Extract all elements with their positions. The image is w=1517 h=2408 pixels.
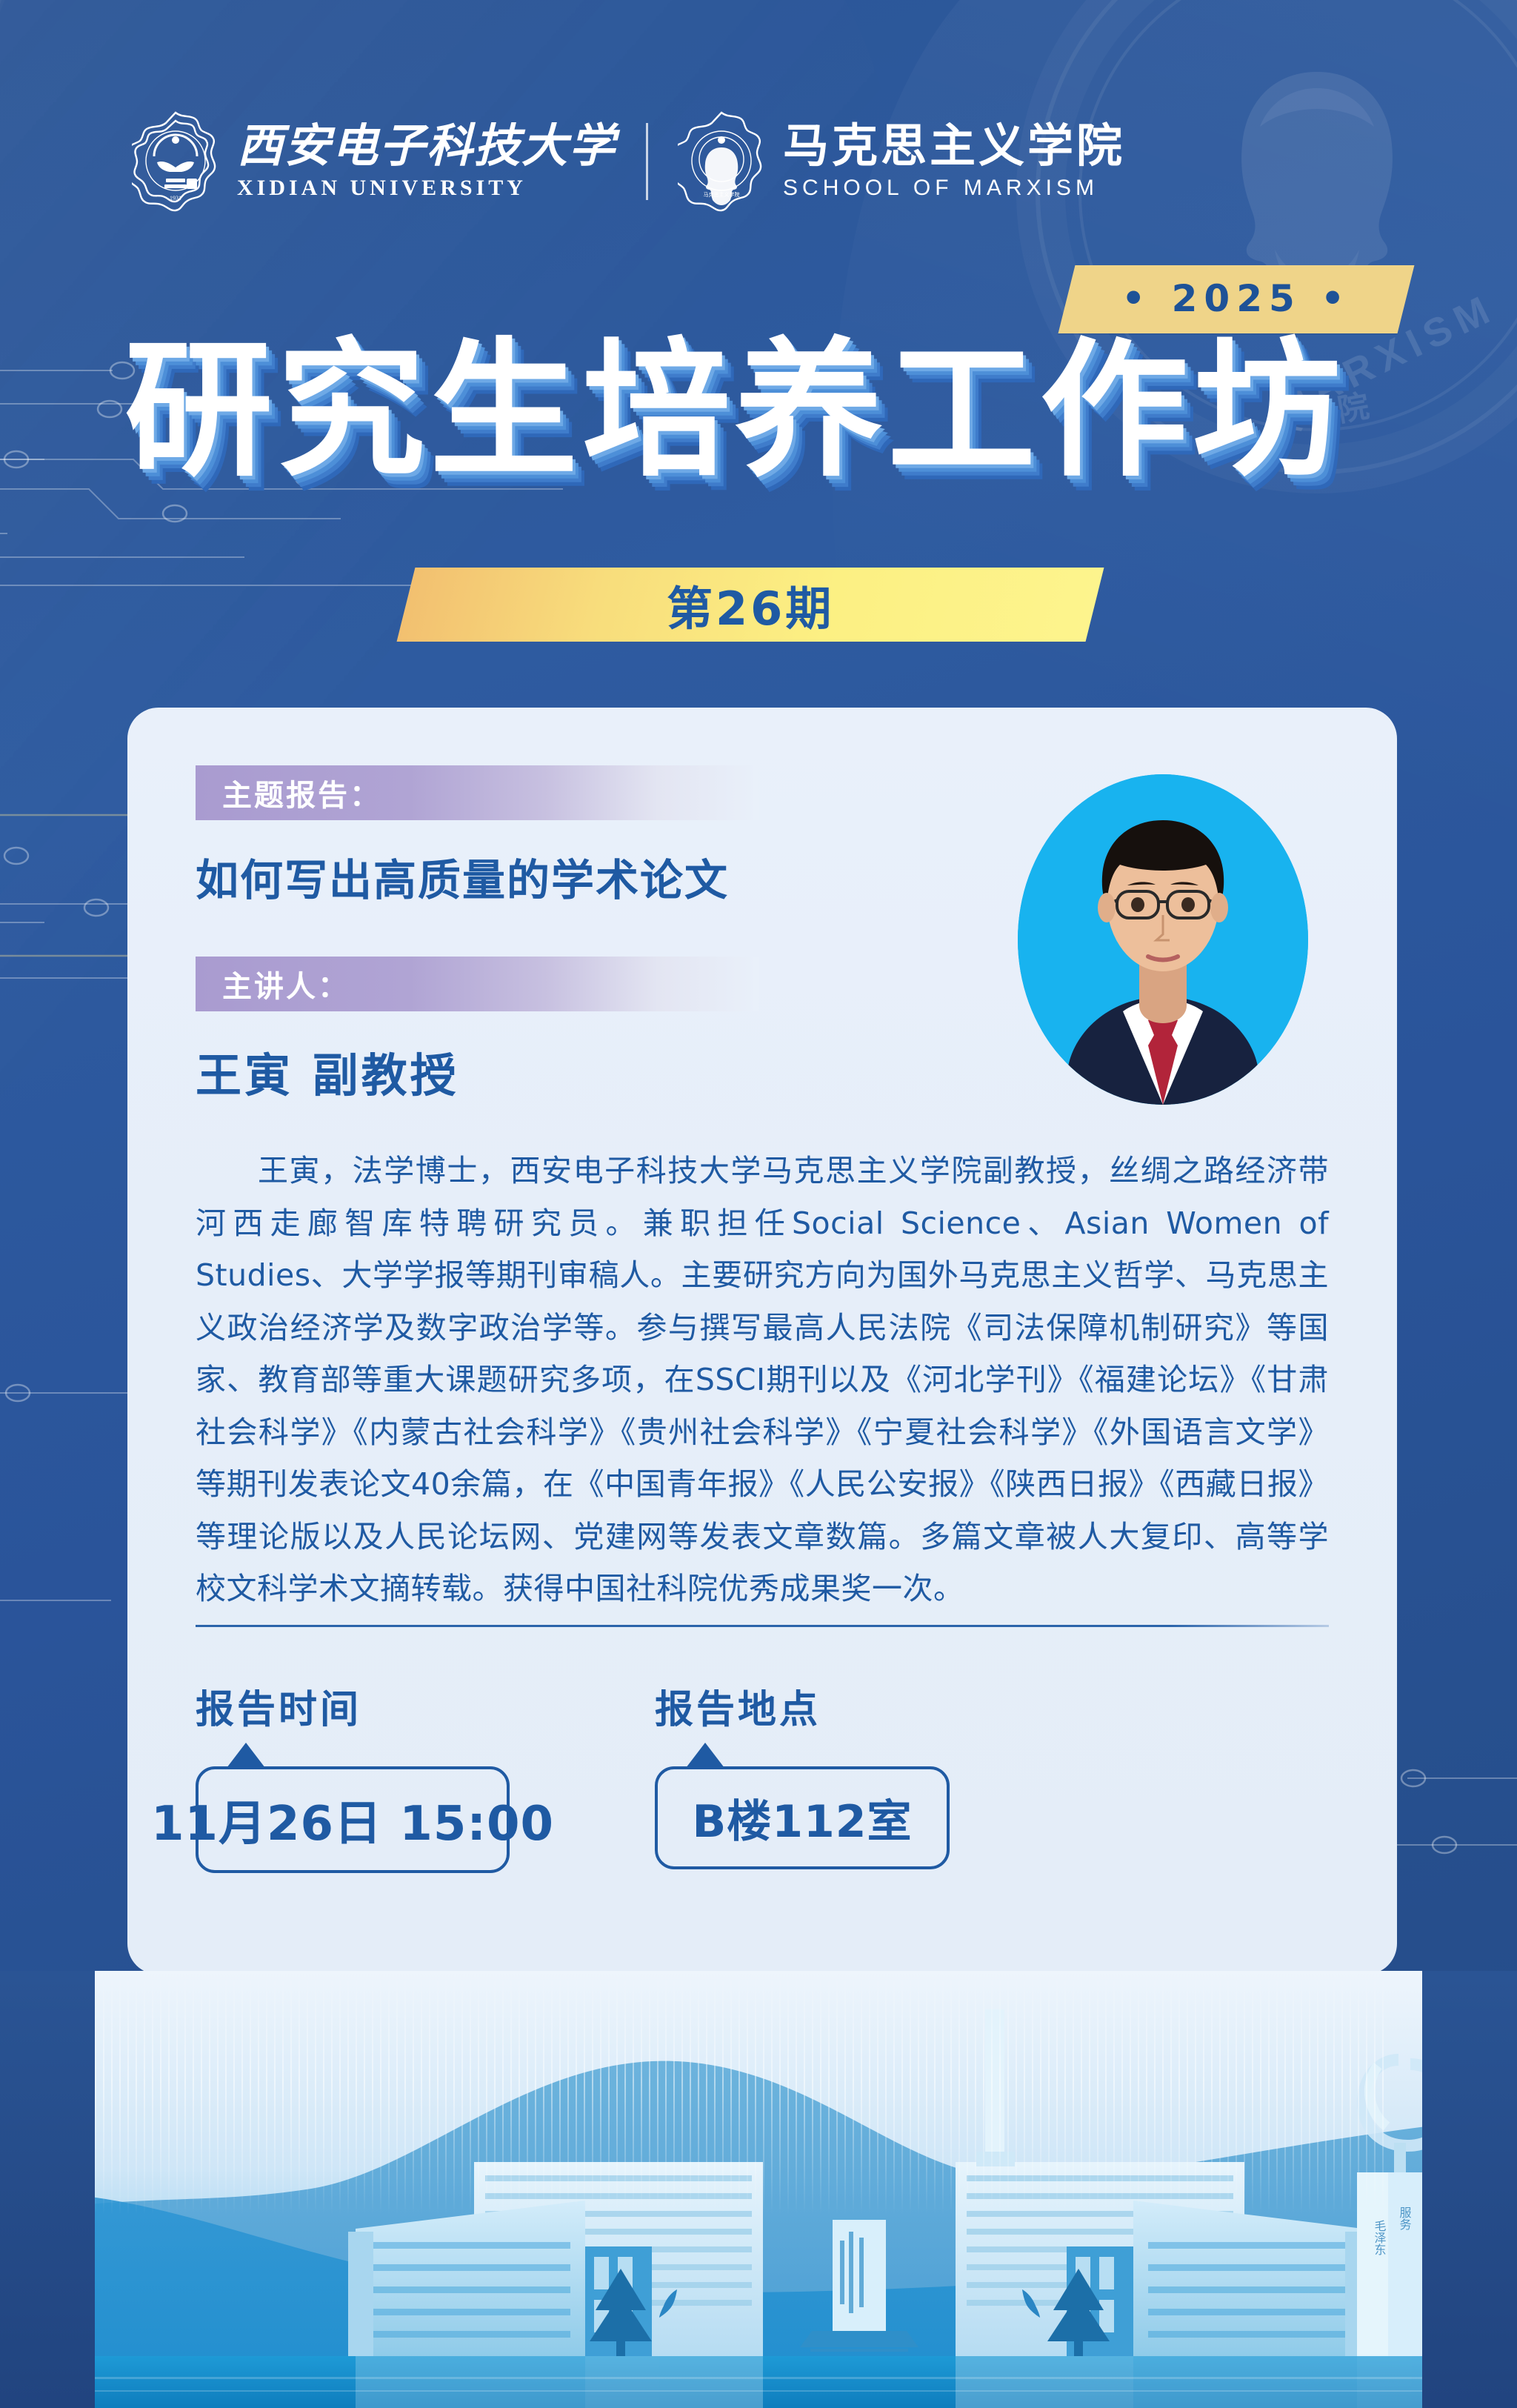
topic-label-pill: 主题报告：	[196, 765, 758, 820]
speaker-portrait-photo	[1018, 774, 1308, 1105]
svg-text:1931: 1931	[170, 195, 181, 202]
poster-title: 研究生培养工作坊	[124, 337, 1345, 485]
speaker-label: 主讲人：	[222, 962, 350, 1005]
event-time-value: 11月26日 15:00	[151, 1786, 554, 1854]
university-name-en: XIDIAN UNIVERSITY	[237, 176, 616, 201]
university-name-cn: 西安电子科技大学	[237, 122, 616, 170]
svg-text:马克思主义学院: 马克思主义学院	[704, 191, 740, 198]
year-badge: • 2025 •	[1058, 265, 1415, 333]
university-logo-text: 西安电子科技大学 XIDIAN UNIVERSITY	[237, 122, 616, 201]
issue-banner-label: 第26期	[667, 571, 834, 638]
event-time-label: 报告时间	[196, 1678, 510, 1734]
campus-skyline-graphic: 全心全意为人民 服务 毛泽东	[0, 1971, 1517, 2408]
topic-label: 主题报告：	[222, 771, 381, 814]
content-card: 主题报告： 如何写出高质量的学术论文 主讲人： 王寅 副教授 王寅，法学博士，西…	[127, 708, 1397, 1975]
school-of-marxism-crest-icon: 马克思主义学院	[678, 110, 765, 213]
issue-banner: 第26期	[397, 568, 1104, 642]
school-name-en: SCHOOL OF MARXISM	[783, 176, 1125, 201]
event-place-block: 报告地点 B楼112室	[655, 1678, 950, 1873]
school-name-cn: 马克思主义学院	[783, 122, 1125, 170]
svg-text:服务: 服务	[1398, 2206, 1412, 2231]
time-arrow-icon	[227, 1743, 265, 1768]
speaker-portrait	[1018, 774, 1308, 1105]
campus-skyline-illustration: 全心全意为人民 服务 毛泽东	[0, 1971, 1517, 2408]
speaker-label-pill: 主讲人：	[196, 957, 758, 1011]
poster-root: MARXISM 义学院	[0, 0, 1517, 2408]
year-badge-label: • 2025 •	[1121, 277, 1351, 320]
event-time-block: 报告时间 11月26日 15:00	[196, 1678, 510, 1873]
university-logo: 1931 西安电子科技大学 XIDIAN UNIVERSITY	[132, 110, 616, 213]
place-arrow-icon	[686, 1743, 724, 1768]
logo-divider	[646, 123, 648, 200]
event-place-box: B楼112室	[655, 1766, 950, 1869]
speaker-biography: 王寅，法学博士，西安电子科技大学马克思主义学院副教授，丝绸之路经济带河西走廊智库…	[196, 1145, 1329, 1615]
event-place-label: 报告地点	[655, 1678, 950, 1734]
card-divider	[196, 1625, 1329, 1627]
school-logo-text: 马克思主义学院 SCHOOL OF MARXISM	[783, 122, 1125, 201]
event-time-box: 11月26日 15:00	[196, 1766, 510, 1873]
poster-header: 1931 西安电子科技大学 XIDIAN UNIVERSITY 马克思主义学院	[132, 111, 1125, 211]
event-place-value: B楼112室	[693, 1786, 913, 1850]
event-info-row: 报告时间 11月26日 15:00 报告地点 B楼112室	[196, 1678, 950, 1873]
svg-text:毛泽东: 毛泽东	[1373, 2220, 1387, 2255]
xidian-university-crest-icon: 1931	[132, 110, 219, 213]
school-logo: 马克思主义学院 马克思主义学院 SCHOOL OF MARXISM	[678, 110, 1125, 213]
